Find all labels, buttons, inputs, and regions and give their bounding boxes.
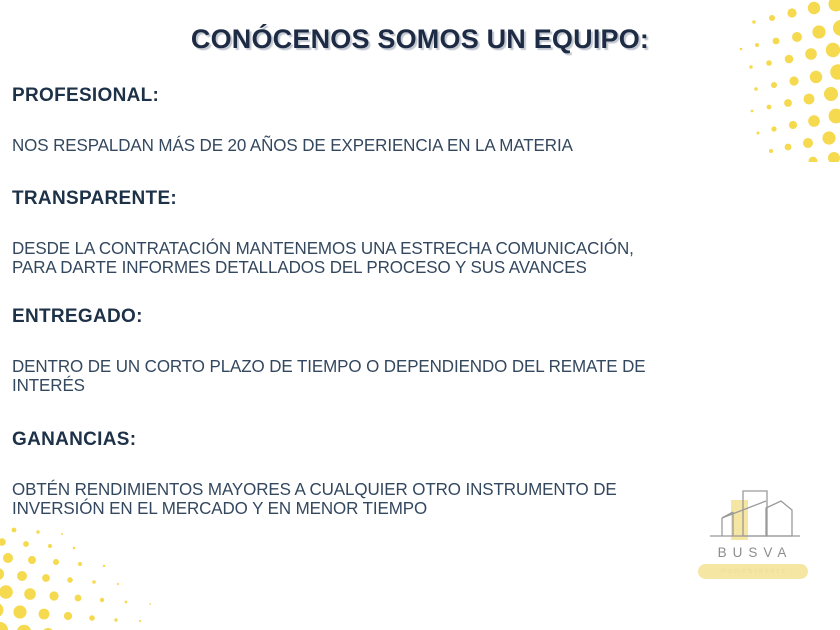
slide-canvas: CONÓCENOS SOMOS UN EQUIPO: PROFESIONAL: … (0, 0, 840, 630)
section-body-transparente: DESDE LA CONTRATACIÓN MANTENEMOS UNA EST… (12, 239, 778, 277)
slide-title: CONÓCENOS SOMOS UN EQUIPO: (0, 24, 840, 55)
body-line: NOS RESPALDAN MÁS DE 20 AÑOS DE EXPERIEN… (12, 136, 778, 155)
section-body-entregado: DENTRO DE UN CORTO PLAZO DE TIEMPO O DEP… (12, 357, 778, 395)
body-line: DESDE LA CONTRATACIÓN MANTENEMOS UNA EST… (12, 239, 778, 258)
content-body: PROFESIONAL: NOS RESPALDAN MÁS DE 20 AÑO… (12, 84, 802, 524)
busva-logo: BUSVA Homebrokers (688, 488, 816, 586)
section-profesional: PROFESIONAL: NOS RESPALDAN MÁS DE 20 AÑO… (12, 84, 802, 155)
section-transparente: TRANSPARENTE: DESDE LA CONTRATACIÓN MANT… (12, 187, 802, 278)
body-line: PARA DARTE INFORMES DETALLADOS DEL PROCE… (12, 258, 778, 277)
section-body-ganancias: OBTÉN RENDIMIENTOS MAYORES A CUALQUIER O… (12, 480, 778, 518)
building-icon (702, 488, 806, 544)
body-line: INVERSIÓN EN EL MERCADO Y EN MENOR TIEMP… (12, 499, 778, 518)
section-body-profesional: NOS RESPALDAN MÁS DE 20 AÑOS DE EXPERIEN… (12, 136, 778, 155)
body-line: INTERÉS (12, 376, 778, 395)
section-heading-transparente: TRANSPARENTE: (12, 187, 802, 211)
section-ganancias: GANANCIAS: OBTÉN RENDIMIENTOS MAYORES A … (12, 428, 802, 519)
section-heading-profesional: PROFESIONAL: (12, 84, 802, 108)
logo-tagline-background: Homebrokers (698, 564, 808, 579)
body-line: OBTÉN RENDIMIENTOS MAYORES A CUALQUIER O… (12, 480, 778, 499)
section-heading-ganancias: GANANCIAS: (12, 428, 802, 452)
section-heading-entregado: ENTREGADO: (12, 305, 802, 329)
halftone-dots-bottomleft-decoration (0, 520, 177, 630)
body-line: DENTRO DE UN CORTO PLAZO DE TIEMPO O DEP… (12, 357, 778, 376)
logo-wordmark: BUSVA (688, 545, 816, 560)
section-entregado: ENTREGADO: DENTRO DE UN CORTO PLAZO DE T… (12, 305, 802, 395)
logo-tagline: Homebrokers (698, 564, 808, 579)
